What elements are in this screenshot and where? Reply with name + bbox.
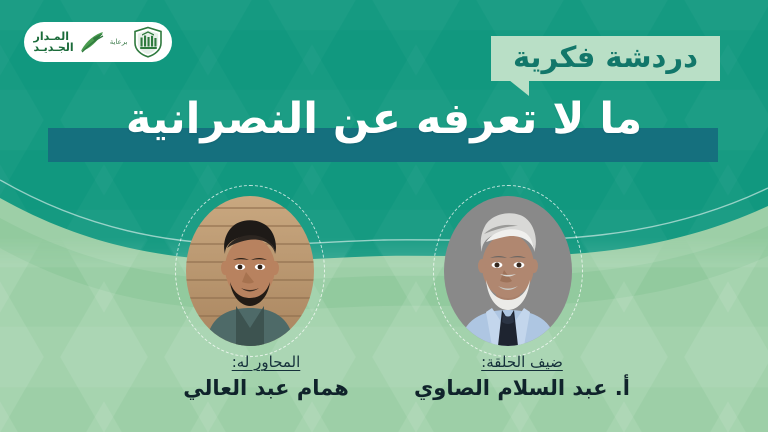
page-title: ما لا تعرفه عن النصرانية	[0, 98, 768, 141]
guest-caption: ضيف الحلقة: أ. عبد السلام الصاوي	[372, 352, 672, 403]
kicker-bubble: دردشة فكرية	[491, 36, 720, 81]
kicker-band: دردشة فكرية	[491, 36, 720, 81]
guest-role-label: ضيف الحلقة:	[372, 352, 672, 372]
poster-canvas: برعاية المـدار الجـديـد دردشة فكرية ما ل…	[0, 0, 768, 432]
kicker-text: دردشة فكرية	[513, 41, 698, 74]
host-role-label: المحاور له:	[116, 352, 416, 372]
sponsor-logo-line-2: الجـديـد	[34, 42, 74, 53]
sponsored-by-label: برعاية	[110, 38, 128, 46]
shield-emblem-icon	[133, 26, 163, 58]
host-name: همام عبد العالي	[116, 374, 416, 402]
host-photo	[186, 196, 314, 346]
guest-portrait	[444, 196, 572, 346]
swoosh-icon	[79, 29, 105, 55]
host-portrait	[186, 196, 314, 346]
host-caption: المحاور له: همام عبد العالي	[116, 352, 416, 403]
guest-photo	[444, 196, 572, 346]
sponsor-logo-wordmark: المـدار الجـديـد	[34, 31, 74, 53]
sponsor-logo[interactable]: برعاية المـدار الجـديـد	[24, 22, 172, 62]
guest-name: أ. عبد السلام الصاوي	[372, 374, 672, 402]
